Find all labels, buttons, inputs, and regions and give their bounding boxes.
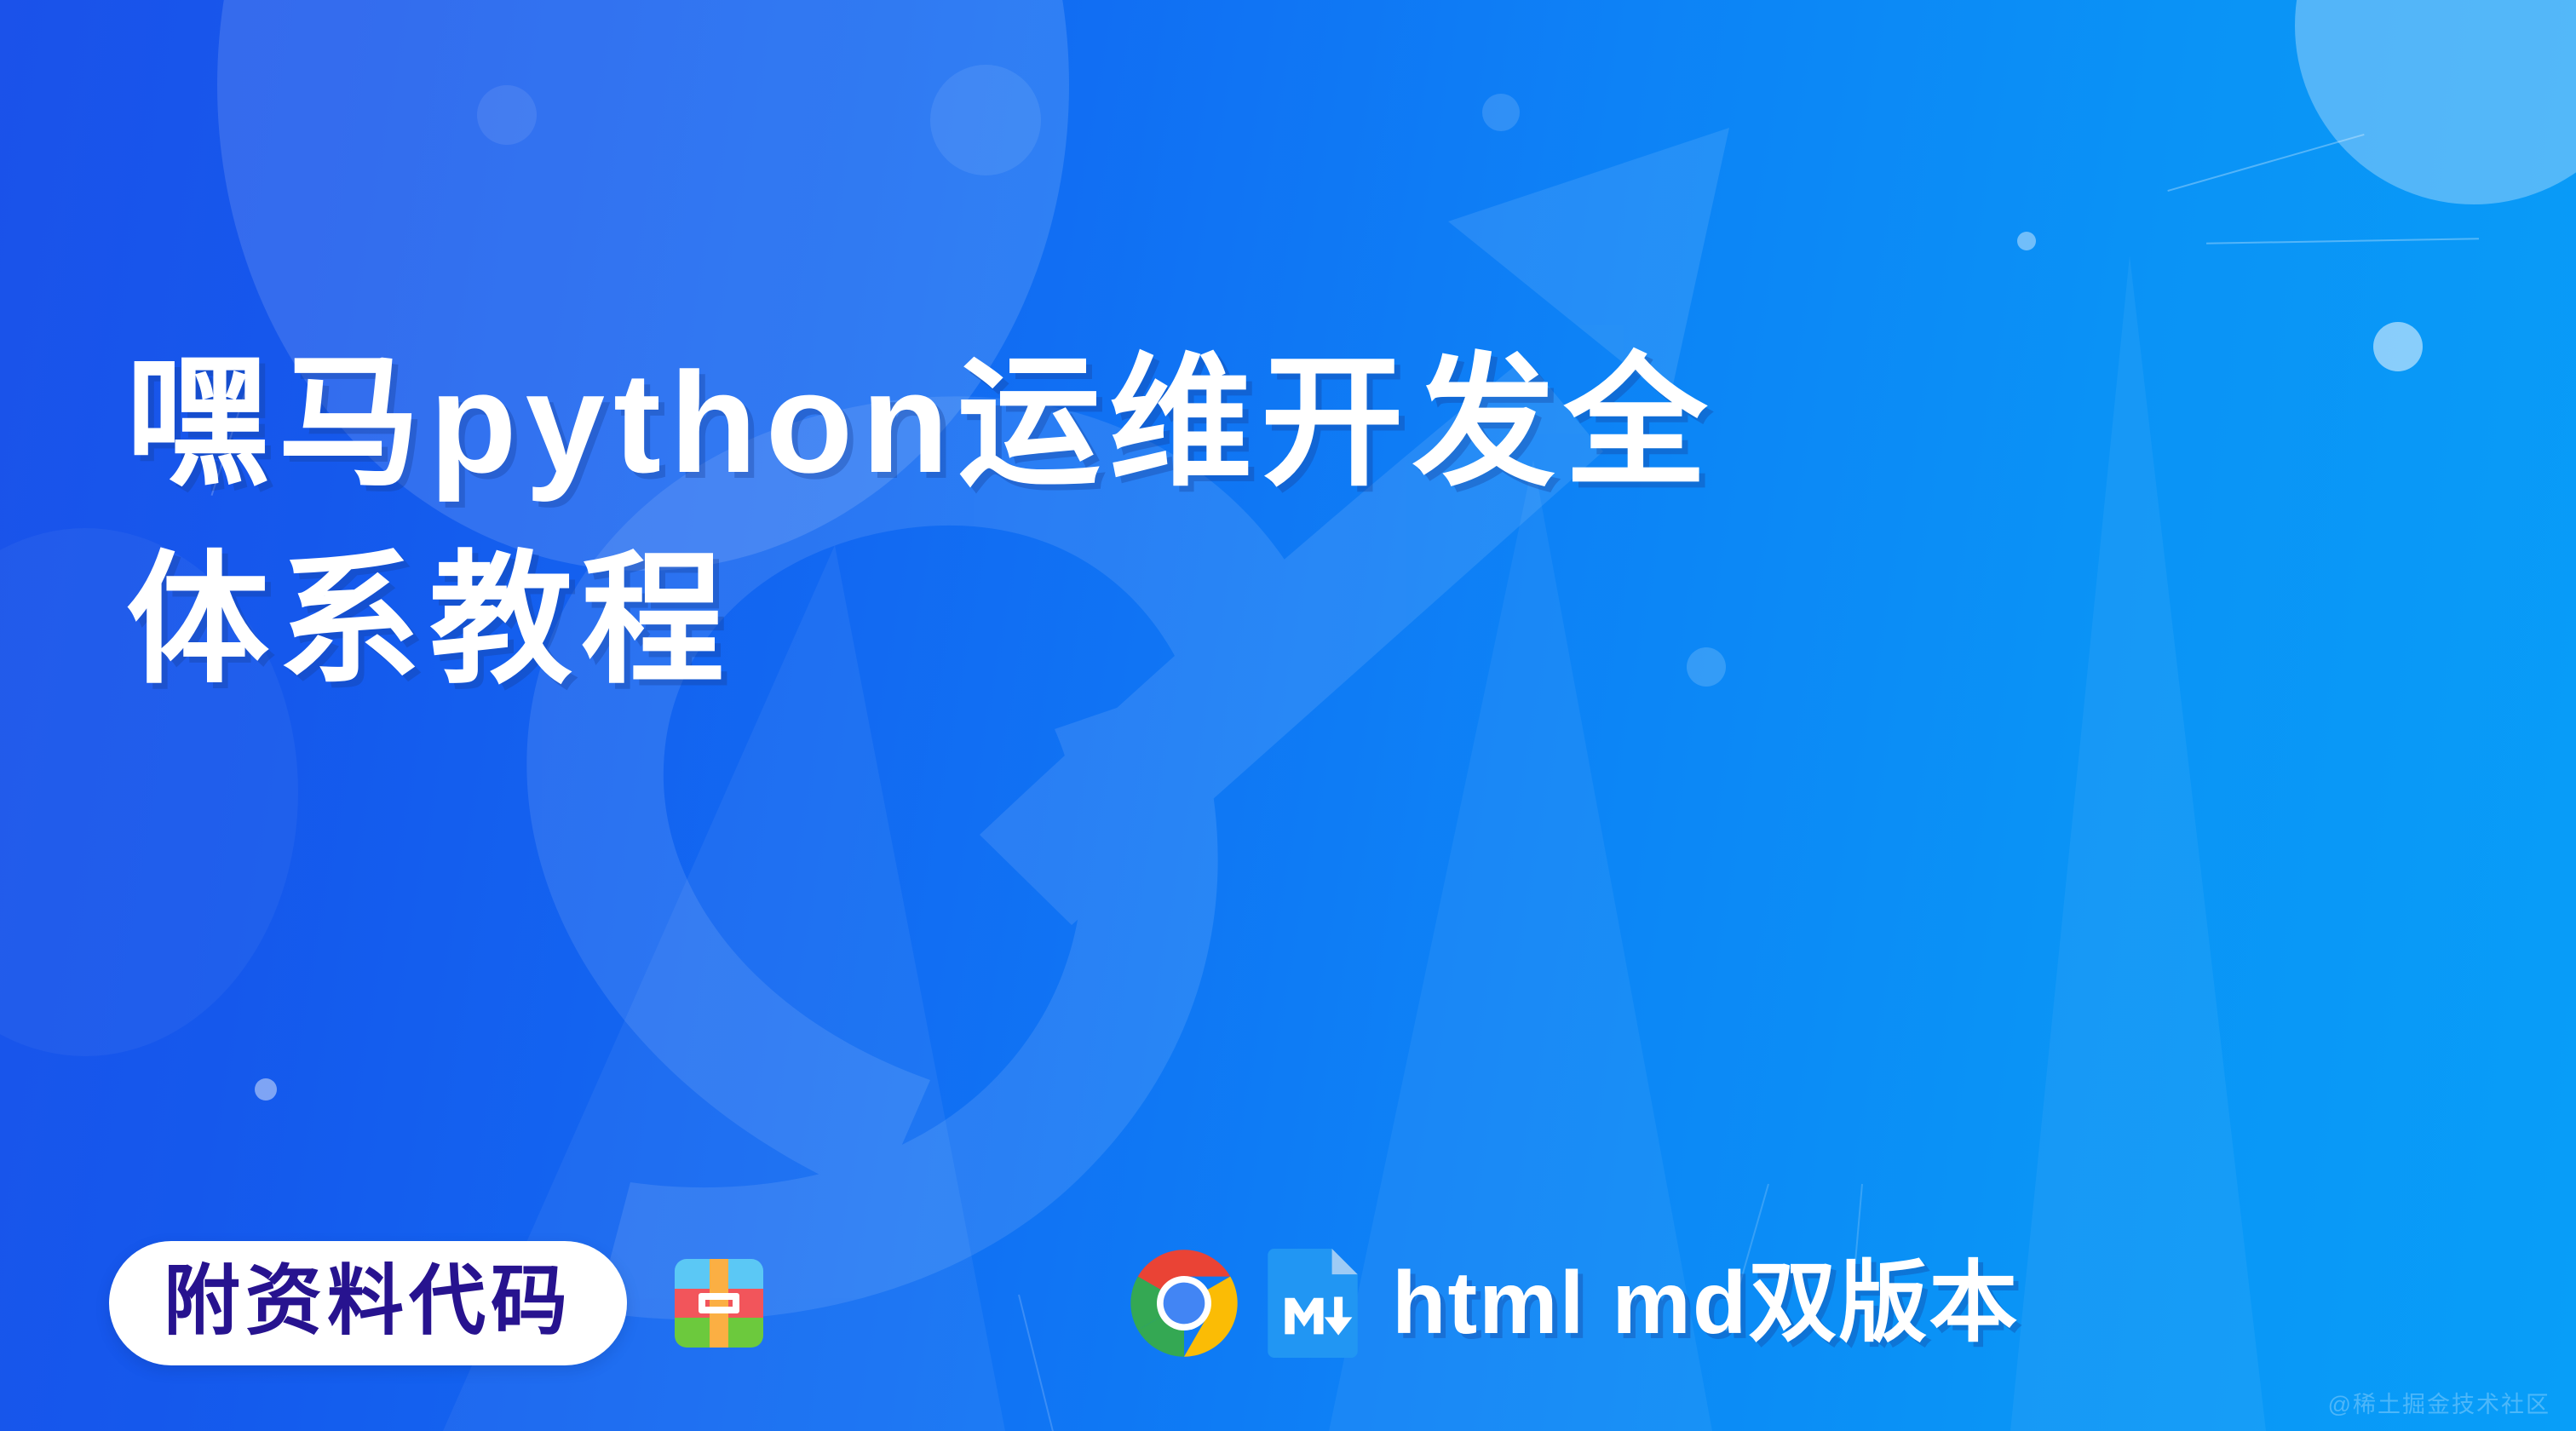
background-hairline-b — [2167, 134, 2364, 192]
format-label: html md双版本 — [1392, 1259, 2019, 1348]
headline-line-1: 嘿马python运维开发全 — [126, 324, 2477, 521]
background-dot-a — [930, 65, 1041, 175]
background-dot-b — [2017, 232, 2036, 250]
markdown-file-icon — [1268, 1249, 1358, 1358]
background-circle-top-right — [2295, 0, 2576, 204]
watermark-label: @稀土掘金技术社区 — [2328, 1386, 2550, 1419]
chrome-browser-icon — [1130, 1249, 1239, 1358]
materials-badge-label: 附资料代码 — [164, 1263, 572, 1340]
bottom-bar: 附资料代码 — [0, 1175, 2576, 1431]
materials-badge[interactable]: 附资料代码 — [109, 1241, 627, 1365]
archive-icon-center-box — [699, 1293, 739, 1314]
format-cluster: html md双版本 — [1130, 1249, 2019, 1358]
headline-block: 嘿马python运维开发全 体系教程 — [126, 324, 2477, 719]
headline-line-2: 体系教程 — [126, 521, 2477, 719]
poster-canvas: 嘿马python运维开发全 体系教程 附资料代码 — [0, 0, 2576, 1431]
background-dot-g — [1482, 94, 1520, 131]
archive-app-icon — [675, 1259, 763, 1348]
background-hairline-a — [2206, 238, 2479, 244]
background-dot-f — [477, 85, 537, 145]
background-dot-d — [255, 1078, 277, 1101]
